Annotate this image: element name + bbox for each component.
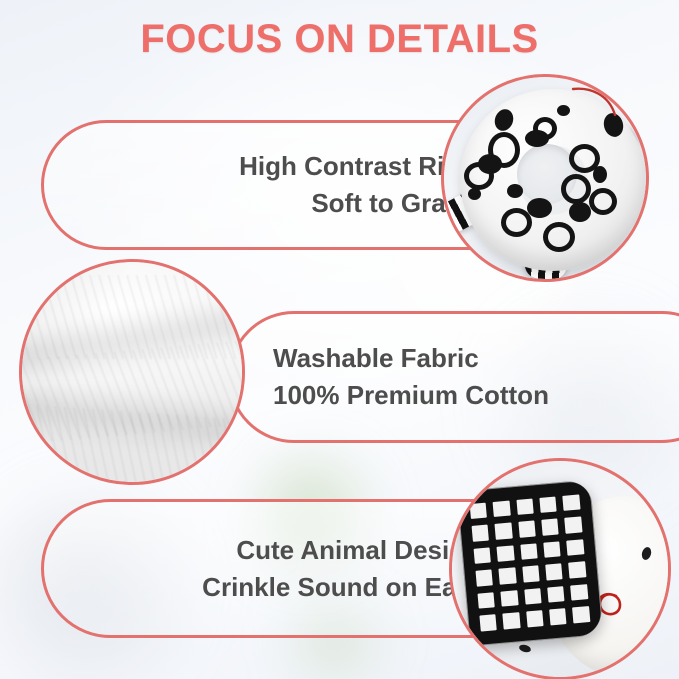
ring-dot: [527, 198, 552, 218]
feature-callout-washable-fabric: Washable Fabric 100% Premium Cotton: [228, 311, 679, 443]
ring-dot: [507, 184, 523, 198]
feature-photo-high-contrast-ring: [441, 74, 649, 282]
feature-photo-cute-animal-design: [449, 458, 671, 679]
ear-photo-inner: [452, 461, 668, 677]
feature-photo-washable-fabric: [19, 259, 245, 485]
page-title: FOCUS ON DETAILS: [0, 17, 679, 62]
feature-line-1: Cute Animal Design: [236, 532, 481, 569]
plush-checkered-ear: [456, 479, 603, 646]
ring-outline-dot: [561, 174, 591, 204]
feature-line-2: 100% Premium Cotton: [273, 377, 549, 414]
ring-photo-inner: [444, 77, 646, 279]
ring-outline-dot: [569, 144, 600, 173]
ring-outline-dot: [464, 162, 494, 190]
feature-line-1: Washable Fabric: [273, 340, 479, 377]
fabric-photo-inner: [22, 262, 242, 482]
product-infographic: FOCUS ON DETAILS High Contrast Ring Soft…: [0, 0, 679, 679]
feature-line-2: Crinkle Sound on Ears: [202, 569, 481, 606]
red-stitch-detail-icon: [569, 85, 629, 125]
ring-outline-dot: [488, 132, 520, 168]
ring-outline-dot: [501, 208, 532, 237]
ear-checker-grid: [469, 494, 590, 631]
